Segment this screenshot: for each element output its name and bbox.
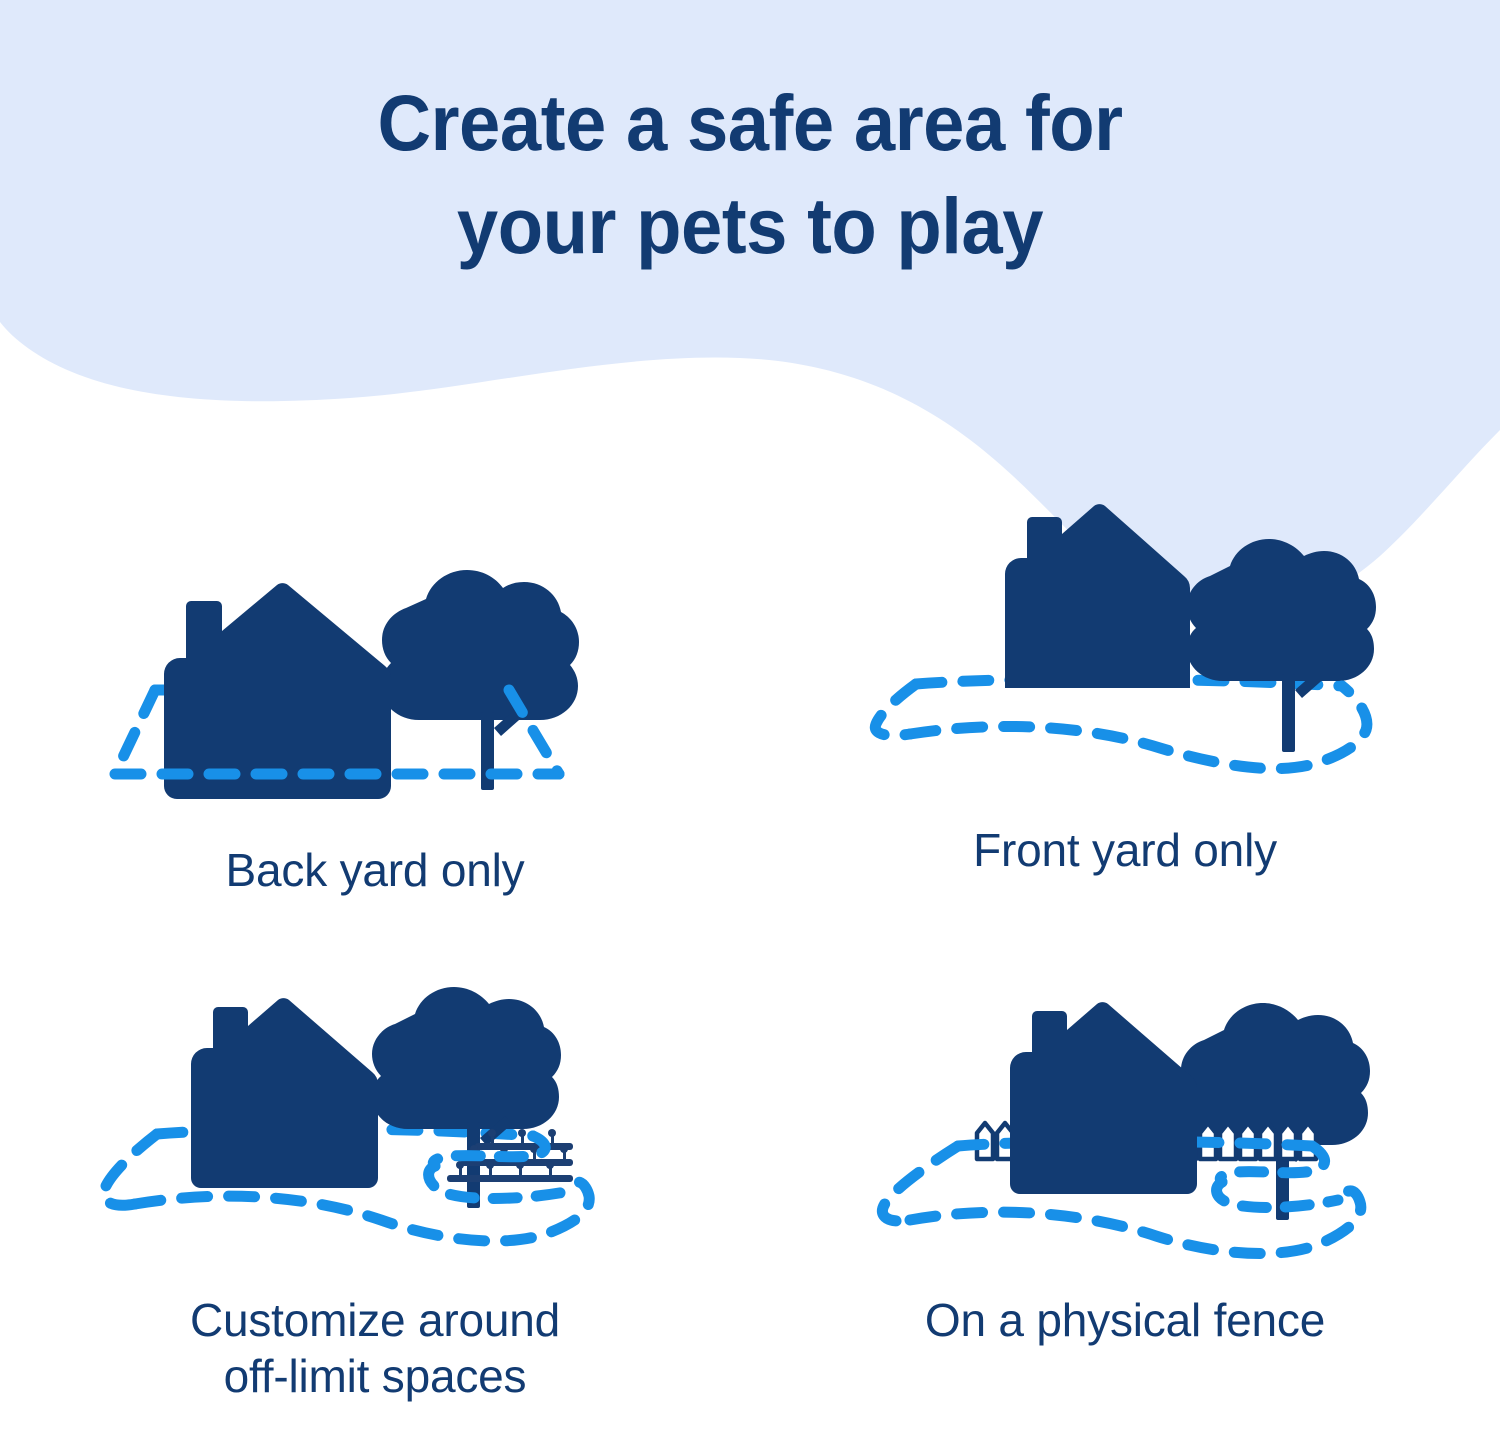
card-front-yard[interactable]: Front yard only (750, 500, 1500, 970)
card-back-yard[interactable]: Back yard only (0, 500, 750, 970)
tree-icon (1181, 1003, 1370, 1220)
card-customize[interactable]: Customize around off-limit spaces (0, 970, 750, 1440)
card-label-line-1: Front yard only (973, 822, 1277, 878)
house-icon (191, 998, 378, 1188)
card-fence[interactable]: On a physical fence (750, 970, 1500, 1440)
house-icon (1010, 1002, 1197, 1194)
page-title-line-2: your pets to play (45, 175, 1455, 278)
customize-illustration (81, 976, 641, 1286)
physical-fence-illustration (850, 976, 1410, 1286)
card-label-fence: On a physical fence (925, 1292, 1325, 1348)
card-label-line-1: Customize around (190, 1292, 560, 1348)
card-label-front-yard: Front yard only (973, 822, 1277, 878)
house-icon (1005, 504, 1190, 688)
tree-icon (1187, 539, 1376, 752)
front-yard-illustration (850, 500, 1410, 810)
page-title: Create a safe area for your pets to play (45, 72, 1455, 277)
card-label-back-yard: Back yard only (226, 842, 525, 898)
card-label-customize: Customize around off-limit spaces (190, 1292, 560, 1404)
page-title-line-1: Create a safe area for (45, 72, 1455, 175)
house-icon (164, 583, 391, 799)
card-label-line-1: On a physical fence (925, 1292, 1325, 1348)
options-grid: Back yard only Fr (0, 500, 1500, 1440)
card-label-line-1: Back yard only (226, 842, 525, 898)
card-label-line-2: off-limit spaces (190, 1348, 560, 1404)
back-yard-illustration (77, 522, 637, 832)
tree-icon (372, 987, 561, 1208)
